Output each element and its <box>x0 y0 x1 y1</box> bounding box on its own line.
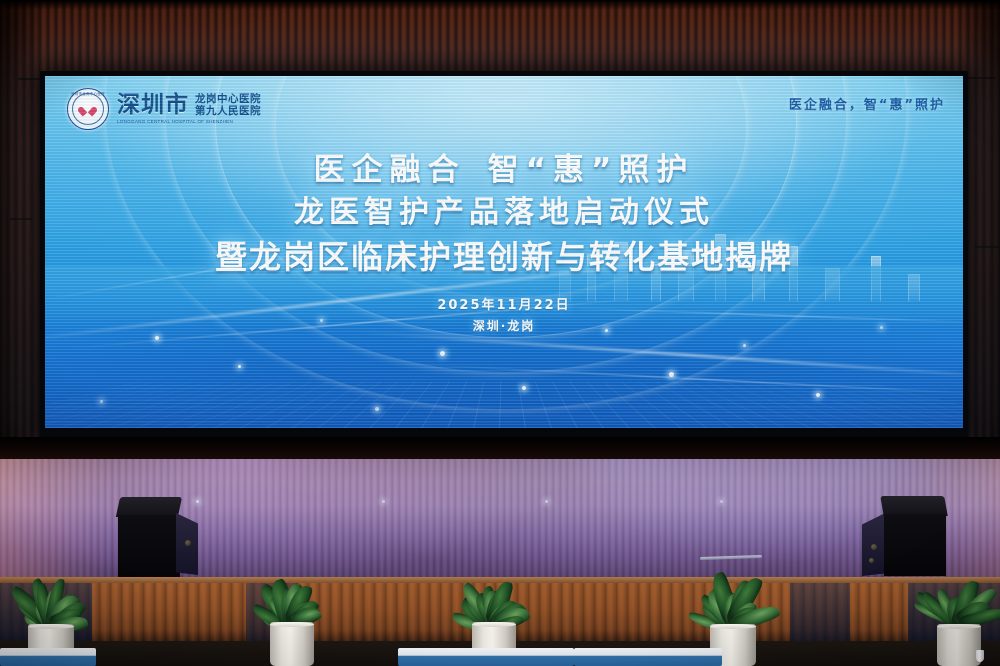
wall-seam <box>975 246 999 248</box>
logo-main-row: 深圳市 龙岗中心医院 第九人民医院 <box>117 94 261 118</box>
event-date: 2025年11月22日 <box>45 294 963 313</box>
floor-light-speck <box>382 500 385 503</box>
monitor-knob <box>185 540 191 546</box>
paper-cup <box>976 650 984 662</box>
light-particle <box>816 393 820 397</box>
wall-seam <box>966 77 996 79</box>
potted-plant <box>918 562 1000 666</box>
headline-line-1: 医企融合智“惠”照护 <box>45 152 963 189</box>
hospital-logo: 深圳市龙岗中心医院 深圳市 龙岗中心医院 第九人民医院 LONGGANG CEN… <box>67 88 261 130</box>
logo-english-name: LONGGANG CENTRAL HOSPITAL OF SHENZHEN <box>117 119 261 124</box>
screen-headline: 医企融合智“惠”照护 龙医智护产品落地启动仪式 暨龙岗区临床护理创新与转化基地揭… <box>45 152 963 279</box>
screen-slogan-top-right: 医企融合，智“惠”照护 <box>789 94 945 113</box>
headline-line-1b: 智“惠”照护 <box>488 152 695 188</box>
plant-foliage <box>452 558 536 630</box>
light-particle <box>440 351 445 356</box>
light-particle <box>743 344 746 347</box>
conference-hall-scene: 深圳市龙岗中心医院 深圳市 龙岗中心医院 第九人民医院 LONGGANG CEN… <box>0 0 1000 666</box>
heart-icon <box>82 106 94 117</box>
foreground-table <box>0 648 96 666</box>
headline-line-2: 龙医智护产品落地启动仪式 <box>45 193 963 234</box>
logo-hospital-names: 龙岗中心医院 第九人民医院 <box>195 94 261 118</box>
plant-pot <box>270 622 314 666</box>
logo-hospital-name-1: 龙岗中心医院 <box>195 94 261 105</box>
hospital-seal-icon: 深圳市龙岗中心医院 <box>67 88 109 130</box>
wall-shadow-left <box>0 0 40 466</box>
logo-hospital-name-2: 第九人民医院 <box>195 106 261 117</box>
floor-light-speck <box>545 500 548 503</box>
monitor-knob <box>871 544 877 550</box>
stage-back-shadow <box>0 437 1000 461</box>
headline-line-1a: 医企融合 <box>314 152 466 188</box>
headline-line-3: 暨龙岗区临床护理创新与转化基地揭牌 <box>45 236 963 279</box>
plant-foliage <box>690 562 776 632</box>
floor-light-speck <box>720 500 723 503</box>
potted-plant <box>250 560 334 666</box>
plant-foliage <box>250 560 334 630</box>
grid-fade-overlay <box>45 266 963 428</box>
event-location: 深圳·龙岗 <box>45 317 963 334</box>
foreground-table <box>574 648 722 666</box>
monitor-side-panel <box>862 510 886 576</box>
seal-arc-text: 深圳市龙岗中心医院 <box>68 93 108 96</box>
light-particle <box>100 400 103 403</box>
wall-seam <box>10 218 32 220</box>
monitor-knob <box>869 558 874 563</box>
monitor-front <box>118 515 180 577</box>
monitor-top-panel <box>880 496 948 516</box>
screen-meta: 2025年11月22日 深圳·龙岗 <box>45 294 963 334</box>
plant-pot <box>937 624 981 666</box>
plant-foliage <box>918 562 1000 632</box>
plant-foliage <box>8 565 94 632</box>
stage-monitor-left <box>118 497 198 577</box>
logo-city-name: 深圳市 <box>117 94 189 117</box>
light-particle <box>669 372 674 377</box>
light-particle <box>238 365 241 368</box>
logo-text-block: 深圳市 龙岗中心医院 第九人民医院 LONGGANG CENTRAL HOSPI… <box>117 94 261 125</box>
ceiling-shadow <box>0 0 1000 10</box>
foreground-table <box>398 648 574 666</box>
monitor-top-panel <box>116 497 182 517</box>
apron-side-midright <box>790 583 850 641</box>
led-screen: 深圳市龙岗中心医院 深圳市 龙岗中心医院 第九人民医院 LONGGANG CEN… <box>45 76 963 428</box>
